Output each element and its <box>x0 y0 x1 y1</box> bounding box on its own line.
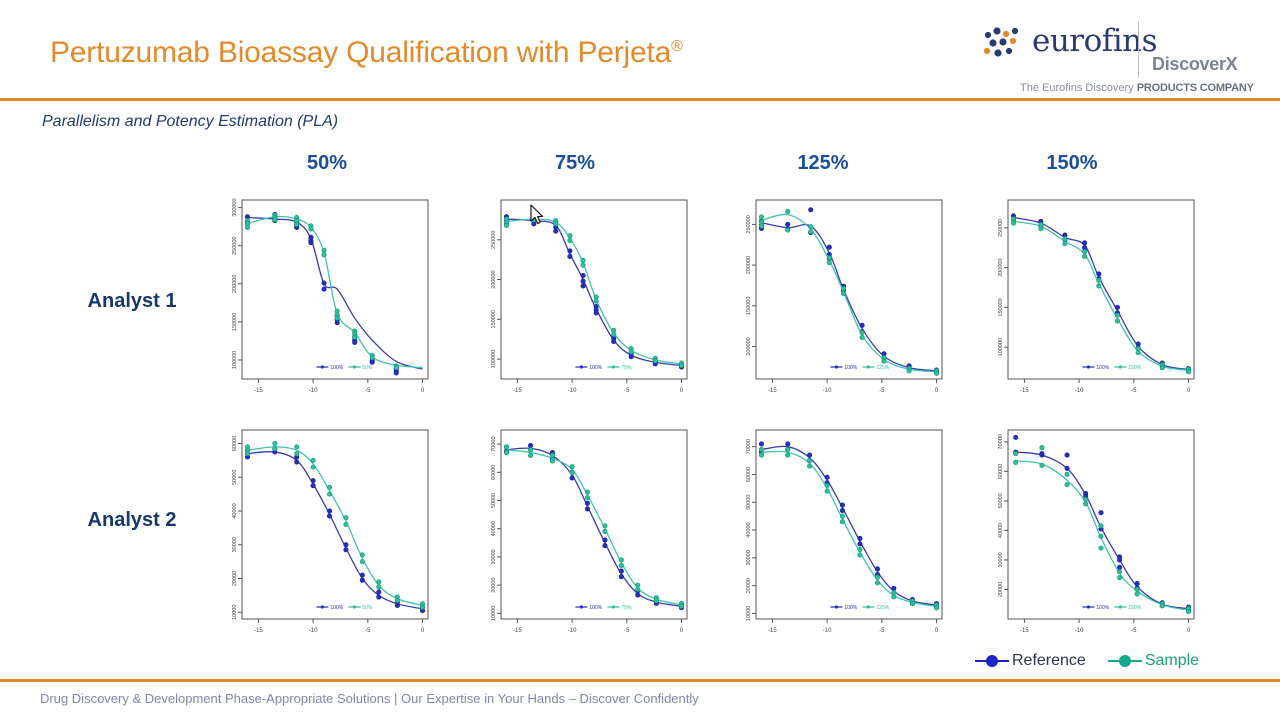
data-point <box>245 451 249 455</box>
data-point <box>1099 534 1103 538</box>
data-point <box>875 581 879 585</box>
eurofins-dots-icon <box>981 26 1029 60</box>
data-point <box>322 253 326 257</box>
y-tick-label: 60000 <box>232 436 238 451</box>
chart-svg-a1-125: 100000150000200000250000-15-10-50100%125… <box>710 190 950 405</box>
data-point <box>786 453 790 457</box>
data-point <box>1099 546 1103 550</box>
y-tick-label: 30000 <box>491 549 497 564</box>
data-point <box>327 509 331 513</box>
column-header-50: 50% <box>267 152 387 175</box>
x-tick-label: 0 <box>1187 628 1191 634</box>
data-point <box>322 281 326 285</box>
y-tick-label: 300000 <box>232 198 238 216</box>
data-point <box>550 459 554 463</box>
x-tick-label: -10 <box>309 628 318 634</box>
chart-panel-a2-75: 10000200003000040000500006000070000-15-1… <box>455 420 695 645</box>
data-point <box>377 595 381 599</box>
eurofins-logo: eurofins DiscoverX The Eurofins Discover… <box>976 18 1246 96</box>
data-point <box>636 593 640 597</box>
inline-legend-label-reference: 100% <box>589 365 602 371</box>
data-point <box>1099 510 1103 514</box>
data-point <box>1135 592 1139 596</box>
column-header-150: 150% <box>1012 152 1132 175</box>
x-tick-label: -10 <box>1075 628 1084 634</box>
data-point <box>554 222 558 226</box>
plot-frame <box>501 200 687 379</box>
data-point <box>910 602 914 606</box>
x-tick-label: 0 <box>421 628 425 634</box>
data-point <box>295 451 299 455</box>
data-point <box>1097 284 1101 288</box>
data-point <box>1065 472 1069 476</box>
mouse-cursor-icon <box>530 204 546 226</box>
data-point <box>335 316 339 320</box>
x-tick-label: -15 <box>513 628 522 634</box>
y-tick-label: 150000 <box>232 313 238 331</box>
y-tick-label: 150000 <box>491 310 497 328</box>
data-point <box>934 371 938 375</box>
data-point <box>370 355 374 359</box>
plot-frame <box>1008 200 1194 379</box>
data-point <box>809 225 813 229</box>
data-point <box>827 245 831 249</box>
data-point <box>1082 250 1086 254</box>
data-point <box>654 598 658 602</box>
data-point <box>1013 451 1017 455</box>
data-point <box>1136 351 1140 355</box>
data-point <box>1065 466 1069 470</box>
row-label-analyst-1: Analyst 1 <box>62 290 202 313</box>
data-point <box>1117 575 1121 579</box>
y-tick-label: 70000 <box>998 434 1004 449</box>
data-point <box>309 240 313 244</box>
data-point <box>585 496 589 500</box>
inline-legend-label-reference: 100% <box>589 605 602 611</box>
data-point <box>892 595 896 599</box>
y-tick-label: 10000 <box>746 606 752 621</box>
chart-panel-a1-75: 100000150000200000250000-15-10-50100%75% <box>455 190 695 405</box>
data-point <box>1011 221 1015 225</box>
data-point <box>841 286 845 290</box>
data-point <box>882 359 886 363</box>
y-tick-label: 100000 <box>998 338 1004 356</box>
inline-legend-label-reference: 100% <box>1096 365 1109 371</box>
data-point <box>394 371 398 375</box>
data-point <box>827 256 831 260</box>
chart-svg-a2-150: 200003000040000500006000070000-15-10-501… <box>962 420 1202 645</box>
header-divider <box>0 98 1280 101</box>
data-point <box>786 209 790 213</box>
y-tick-label: 250000 <box>746 215 752 233</box>
y-tick-label: 40000 <box>746 522 752 537</box>
data-point <box>1040 451 1044 455</box>
data-point <box>327 485 331 489</box>
data-point <box>295 445 299 449</box>
data-point <box>585 501 589 505</box>
registered-trademark-icon: ® <box>671 38 683 55</box>
data-point <box>327 492 331 496</box>
data-point <box>1117 570 1121 574</box>
x-tick-label: -5 <box>1131 628 1137 634</box>
x-tick-label: -15 <box>254 628 263 634</box>
x-tick-label: -10 <box>823 388 832 394</box>
plot-frame <box>242 200 428 379</box>
footer-divider <box>0 679 1280 682</box>
y-tick-label: 30000 <box>998 552 1004 567</box>
data-point <box>1040 463 1044 467</box>
x-tick-label: 0 <box>935 388 939 394</box>
data-point <box>581 263 585 267</box>
data-point <box>1013 435 1017 439</box>
y-tick-label: 30000 <box>746 550 752 565</box>
x-tick-label: 0 <box>680 628 684 634</box>
data-point <box>581 279 585 283</box>
data-point <box>611 339 615 343</box>
data-point <box>1039 226 1043 230</box>
data-point <box>1097 272 1101 276</box>
data-point <box>636 583 640 587</box>
data-point <box>568 249 572 253</box>
data-point <box>570 464 574 468</box>
y-tick-label: 250000 <box>232 237 238 255</box>
x-tick-label: 0 <box>935 628 939 634</box>
data-point <box>352 335 356 339</box>
legend-item-sample: Sample <box>1108 652 1199 670</box>
data-point <box>653 359 657 363</box>
data-point <box>1083 502 1087 506</box>
y-tick-label: 150000 <box>746 297 752 315</box>
data-point <box>360 553 364 557</box>
data-point <box>619 563 623 567</box>
data-point <box>273 218 277 222</box>
y-tick-label: 150000 <box>998 298 1004 316</box>
data-point <box>858 553 862 557</box>
data-point <box>1115 313 1119 317</box>
data-point <box>581 284 585 288</box>
data-point <box>809 208 813 212</box>
data-point <box>1097 278 1101 282</box>
legend-label-reference: Reference <box>1012 652 1086 670</box>
x-tick-label: -15 <box>768 388 777 394</box>
data-point <box>273 446 277 450</box>
y-tick-label: 50000 <box>491 493 497 508</box>
plot-frame <box>501 430 687 619</box>
data-point <box>759 224 763 228</box>
y-tick-label: 200000 <box>746 256 752 274</box>
data-point <box>504 445 508 449</box>
x-tick-label: -10 <box>823 628 832 634</box>
data-point <box>759 453 763 457</box>
y-tick-label: 10000 <box>491 606 497 621</box>
data-point <box>841 291 845 295</box>
main-legend: Reference Sample <box>975 652 1199 670</box>
section-subtitle: Parallelism and Potency Estimation (PLA) <box>42 113 338 131</box>
chart-panel-a1-125: 100000150000200000250000-15-10-50100%125… <box>710 190 950 405</box>
x-tick-label: -15 <box>254 388 263 394</box>
data-point <box>860 330 864 334</box>
data-point <box>892 586 896 590</box>
data-point <box>395 598 399 602</box>
data-point <box>377 590 381 594</box>
x-tick-label: -5 <box>365 628 371 634</box>
legend-marker-sample-icon <box>1108 653 1142 669</box>
data-point <box>1115 319 1119 323</box>
data-point <box>759 442 763 446</box>
data-point <box>786 228 790 232</box>
data-point <box>568 254 572 258</box>
data-point <box>309 227 313 231</box>
data-point <box>1065 453 1069 457</box>
chart-svg-a2-125: 10000200003000040000500006000070000-15-1… <box>710 420 950 645</box>
inline-legend-label-sample: 150% <box>1128 365 1141 371</box>
y-tick-label: 40000 <box>491 521 497 536</box>
data-point <box>679 604 683 608</box>
y-tick-label: 20000 <box>232 571 238 586</box>
data-point <box>352 340 356 344</box>
data-point <box>858 542 862 546</box>
y-tick-label: 70000 <box>491 436 497 451</box>
data-point <box>875 567 879 571</box>
y-tick-label: 30000 <box>232 537 238 552</box>
data-point <box>570 476 574 480</box>
data-point <box>245 225 249 229</box>
x-tick-label: -15 <box>1020 388 1029 394</box>
y-tick-label: 20000 <box>998 582 1004 597</box>
x-tick-label: 0 <box>421 388 425 394</box>
data-point <box>603 529 607 533</box>
logo-tagline: The Eurofins Discovery PRODUCTS COMPANY <box>1020 82 1254 94</box>
y-tick-label: 40000 <box>232 503 238 518</box>
data-point <box>827 260 831 264</box>
data-point <box>840 520 844 524</box>
legend-item-reference: Reference <box>975 652 1086 670</box>
inline-legend-label-reference: 100% <box>330 605 343 611</box>
data-point <box>594 311 598 315</box>
chart-panel-a1-150: 100000150000200000250000-15-10-50100%150… <box>962 190 1202 405</box>
page-title: Pertuzumab Bioassay Qualification with P… <box>50 36 683 70</box>
chart-svg-a1-75: 100000150000200000250000-15-10-50100%75% <box>455 190 695 405</box>
legend-marker-reference-icon <box>975 653 1009 669</box>
data-point <box>809 230 813 234</box>
data-point <box>273 441 277 445</box>
data-point <box>570 470 574 474</box>
data-point <box>344 516 348 520</box>
data-point <box>311 458 315 462</box>
y-tick-label: 200000 <box>232 275 238 293</box>
y-tick-label: 50000 <box>232 470 238 485</box>
data-point <box>360 559 364 563</box>
data-point <box>840 508 844 512</box>
data-point <box>860 335 864 339</box>
data-point <box>825 483 829 487</box>
logo-tagline-bold: PRODUCTS COMPANY <box>1137 82 1254 94</box>
x-tick-label: -10 <box>309 388 318 394</box>
x-tick-label: 0 <box>680 388 684 394</box>
data-point <box>1186 609 1190 613</box>
data-point <box>1135 581 1139 585</box>
data-point <box>825 489 829 493</box>
data-point <box>295 460 299 464</box>
y-tick-label: 70000 <box>746 439 752 454</box>
y-tick-label: 100000 <box>746 337 752 355</box>
x-tick-label: -5 <box>624 388 630 394</box>
legend-label-sample: Sample <box>1145 652 1199 670</box>
data-point <box>603 543 607 547</box>
y-tick-label: 100000 <box>491 350 497 368</box>
data-point <box>327 514 331 518</box>
data-point <box>1099 524 1103 528</box>
inline-legend-label-reference: 100% <box>1096 605 1109 611</box>
data-point <box>619 569 623 573</box>
data-point <box>858 547 862 551</box>
x-tick-label: -10 <box>568 388 577 394</box>
data-point <box>335 320 339 324</box>
y-tick-label: 200000 <box>998 258 1004 276</box>
data-point <box>594 299 598 303</box>
y-tick-label: 250000 <box>491 231 497 249</box>
page-title-text: Pertuzumab Bioassay Qualification with P… <box>50 36 671 69</box>
data-point <box>603 538 607 542</box>
data-point <box>344 548 348 552</box>
data-point <box>581 273 585 277</box>
chart-panel-a2-50: 100002000030000400005000060000-15-10-501… <box>196 420 436 645</box>
inline-legend-label-sample: 75% <box>621 365 632 371</box>
data-point <box>636 587 640 591</box>
logo-tagline-light: The Eurofins Discovery <box>1020 82 1137 94</box>
data-point <box>825 475 829 479</box>
data-point <box>1063 242 1067 246</box>
data-point <box>311 483 315 487</box>
data-point <box>420 605 424 609</box>
data-point <box>1063 237 1067 241</box>
data-point <box>759 215 763 219</box>
x-tick-label: -15 <box>768 628 777 634</box>
data-point <box>934 606 938 610</box>
data-point <box>786 447 790 451</box>
chart-svg-a1-50: 100000150000200000250000300000-15-10-501… <box>196 190 436 405</box>
data-point <box>1117 565 1121 569</box>
discoverx-wordmark: DiscoverX <box>1152 54 1237 75</box>
row-label-analyst-2: Analyst 2 <box>62 509 202 532</box>
y-tick-label: 50000 <box>998 493 1004 508</box>
data-point <box>907 369 911 373</box>
x-tick-label: -5 <box>879 388 885 394</box>
data-point <box>344 543 348 547</box>
data-point <box>528 453 532 457</box>
y-tick-label: 100000 <box>232 351 238 369</box>
inline-legend-label-reference: 100% <box>330 365 343 371</box>
data-point <box>619 574 623 578</box>
data-point <box>568 238 572 242</box>
data-point <box>1135 587 1139 591</box>
data-point <box>360 573 364 577</box>
y-tick-label: 10000 <box>232 605 238 620</box>
data-point <box>892 590 896 594</box>
inline-legend-label-sample: 50% <box>362 365 373 371</box>
x-tick-label: -5 <box>365 388 371 394</box>
y-tick-label: 200000 <box>491 270 497 288</box>
x-tick-label: 0 <box>1187 388 1191 394</box>
inline-legend-label-sample: 125% <box>876 605 889 611</box>
data-point <box>504 223 508 227</box>
data-point <box>1065 482 1069 486</box>
data-point <box>344 522 348 526</box>
chart-svg-a2-75: 10000200003000040000500006000070000-15-1… <box>455 420 695 645</box>
data-point <box>807 458 811 462</box>
inline-legend-label-reference: 100% <box>844 365 857 371</box>
plot-frame <box>756 430 942 619</box>
data-point <box>629 355 633 359</box>
data-point <box>370 360 374 364</box>
data-point <box>585 507 589 511</box>
data-point <box>360 578 364 582</box>
data-point <box>1083 497 1087 501</box>
data-point <box>1160 604 1164 608</box>
y-tick-label: 40000 <box>998 523 1004 538</box>
data-point <box>311 478 315 482</box>
inline-legend-label-sample: 75% <box>621 605 632 611</box>
data-point <box>611 332 615 336</box>
data-point <box>629 350 633 354</box>
data-point <box>554 229 558 233</box>
data-point <box>858 536 862 540</box>
chart-panel-a2-125: 10000200003000040000500006000070000-15-1… <box>710 420 950 645</box>
data-point <box>875 575 879 579</box>
chart-svg-a2-50: 100002000030000400005000060000-15-10-501… <box>196 420 436 645</box>
y-tick-label: 250000 <box>998 219 1004 237</box>
data-point <box>581 258 585 262</box>
x-tick-label: -5 <box>624 628 630 634</box>
data-point <box>394 365 398 369</box>
column-header-125: 125% <box>763 152 883 175</box>
data-point <box>1082 254 1086 258</box>
logo-divider <box>1138 22 1139 78</box>
data-point <box>840 503 844 507</box>
x-tick-label: -10 <box>568 628 577 634</box>
x-tick-label: -15 <box>513 388 522 394</box>
chart-panel-a1-50: 100000150000200000250000300000-15-10-501… <box>196 190 436 405</box>
inline-legend-label-sample: 50% <box>362 605 373 611</box>
data-point <box>759 447 763 451</box>
data-point <box>786 222 790 226</box>
data-point <box>585 490 589 494</box>
chart-panel-a2-150: 200003000040000500006000070000-15-10-501… <box>962 420 1202 645</box>
column-header-75: 75% <box>515 152 635 175</box>
data-point <box>377 585 381 589</box>
data-point <box>860 323 864 327</box>
chart-svg-a1-150: 100000150000200000250000-15-10-50100%150… <box>962 190 1202 405</box>
data-point <box>322 248 326 252</box>
data-point <box>840 514 844 518</box>
data-point <box>504 450 508 454</box>
data-point <box>679 363 683 367</box>
y-tick-label: 20000 <box>746 578 752 593</box>
data-point <box>528 443 532 447</box>
data-point <box>1013 460 1017 464</box>
data-point <box>295 222 299 226</box>
data-point <box>568 234 572 238</box>
x-tick-label: -10 <box>1075 388 1084 394</box>
x-tick-label: -15 <box>1020 628 1029 634</box>
data-point <box>322 287 326 291</box>
y-tick-label: 60000 <box>491 465 497 480</box>
data-point <box>377 580 381 584</box>
data-point <box>786 442 790 446</box>
data-point <box>619 558 623 562</box>
data-point <box>1117 558 1121 562</box>
y-tick-label: 20000 <box>491 578 497 593</box>
